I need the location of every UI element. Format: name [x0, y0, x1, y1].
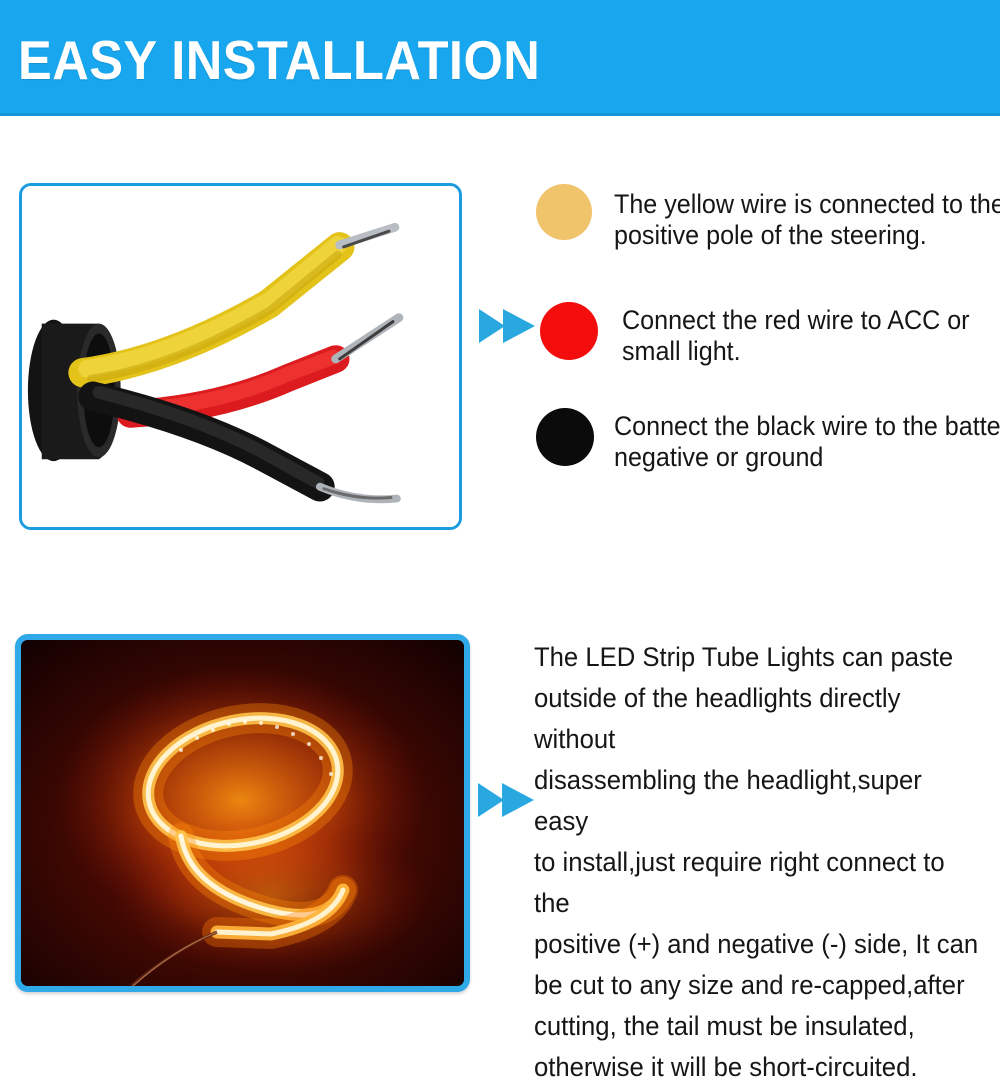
infographic-page: EASY INSTALLATION [0, 0, 1000, 1000]
header-banner: EASY INSTALLATION [0, 0, 1000, 116]
red-wire-text: Connect the red wire to ACC or small lig… [622, 305, 1000, 367]
list-item-red-wire: Connect the red wire to ACC or small lig… [540, 302, 1000, 367]
black-wire-dot [536, 408, 594, 466]
double-chevron-right-icon-1 [477, 303, 539, 349]
black-wire-text: Connect the black wire to the battery ne… [614, 411, 1000, 473]
page-title: EASY INSTALLATION [18, 33, 540, 88]
chevron-shape [477, 303, 539, 349]
led-strip-photo [15, 634, 470, 992]
yellow-wire-text: The yellow wire is connected to the posi… [614, 189, 1000, 251]
list-item-black-wire: Connect the black wire to the battery ne… [536, 408, 1000, 473]
wire-harness-photo [19, 183, 462, 530]
yellow-wire-dot [536, 184, 592, 240]
list-item-yellow-wire: The yellow wire is connected to the posi… [536, 184, 1000, 251]
wire-harness-illustration [22, 186, 459, 527]
red-wire-dot [540, 302, 598, 360]
double-chevron-right-icon-2 [476, 777, 538, 823]
product-description-text: The LED Strip Tube Lights can paste outs… [534, 637, 981, 1088]
led-strip-illustration [21, 640, 464, 986]
chevron-shape [476, 777, 538, 823]
